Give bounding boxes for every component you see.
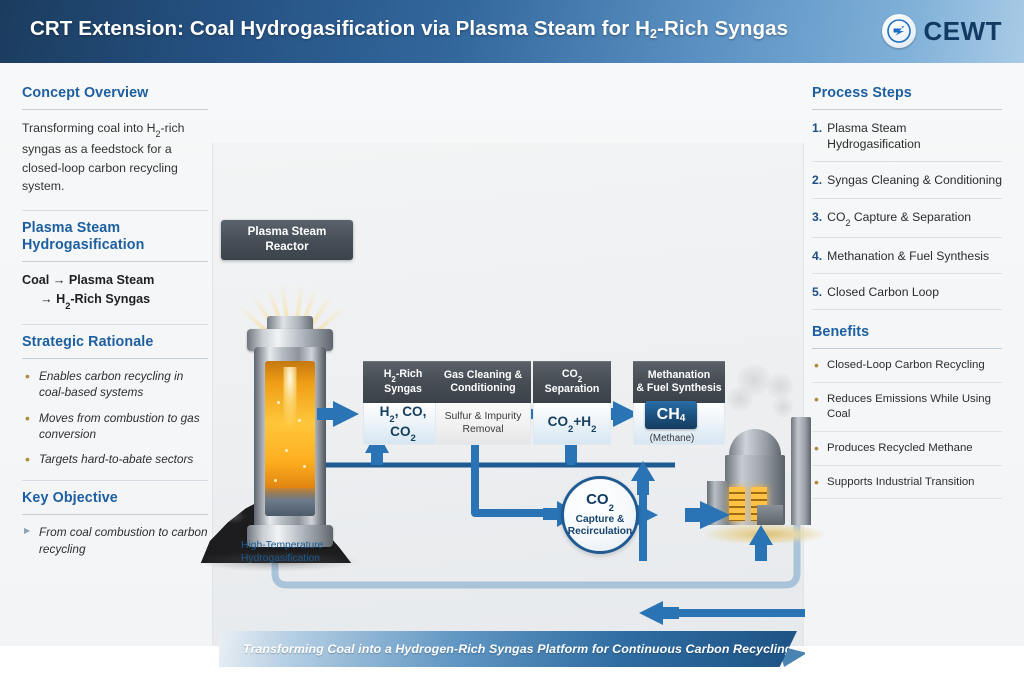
divider	[812, 382, 1002, 383]
divider	[22, 109, 208, 110]
benefit-item: Supports Industrial Transition	[812, 475, 1002, 490]
ch4-chip[interactable]: CH4	[645, 401, 697, 429]
box-subtext: CO2+H2	[533, 403, 611, 445]
divider	[812, 348, 1002, 349]
box-header-pre: CO	[562, 368, 578, 380]
brand-logo: CEWT	[882, 12, 1002, 50]
co2-subtitle-line2: Recirculation	[568, 526, 633, 538]
cewt-badge-icon	[882, 14, 916, 48]
smoke-puff	[773, 397, 793, 417]
co2-capture-recirculation-node[interactable]: CO2 Capture & Recirculation	[561, 476, 639, 554]
key-objective-heading: Key Objective	[22, 490, 208, 507]
co2-title-pre: CO	[586, 491, 609, 508]
step-number: 3.	[812, 209, 822, 228]
summary-banner: Transforming Coal into a Hydrogen-Rich S…	[219, 631, 797, 667]
process-step-3: 3. CO2 Capture & Separation	[812, 208, 1002, 228]
box-subtext-line1: Sulfur & Impurity	[445, 411, 522, 423]
concept-overview-text: Transforming coal into H2-rich syngas as…	[22, 119, 208, 196]
reactor-body	[254, 347, 326, 531]
plasma-steam-reactor-illustration	[254, 329, 326, 547]
left-sidebar: Concept Overview Transforming coal into …	[22, 85, 208, 558]
list-item: Enables carbon recycling in coal-based s…	[22, 368, 208, 401]
plasma-equation: Coal → Plasma Steam → H2-Rich Syngas	[22, 271, 208, 311]
equation-line2-pre: → H	[40, 292, 65, 306]
page-header: CRT Extension: Coal Hydrogasification vi…	[0, 0, 1024, 63]
step-number: 5.	[812, 284, 822, 300]
process-step-4: 4. Methanation & Fuel Synthesis	[812, 247, 1002, 264]
formula-mid: +H	[573, 414, 591, 429]
co2-subtitle: Capture & Recirculation	[568, 514, 633, 538]
formula-pre: CO	[548, 414, 568, 429]
box-header-line1: Gas Cleaning &	[444, 369, 522, 382]
smoke-puff	[727, 387, 753, 411]
equation-line2-sub: 2	[65, 301, 70, 311]
box-header-post: -Rich	[396, 368, 422, 380]
divider	[22, 324, 208, 325]
divider	[22, 358, 208, 359]
step-label: Closed Carbon Loop	[827, 284, 939, 300]
box-header-sub: 2	[391, 375, 395, 384]
ch4-label: CH	[657, 406, 680, 424]
right-sidebar: Process Steps 1. Plasma Steam Hydrogasif…	[812, 85, 1002, 508]
box-header-sub: 2	[578, 375, 582, 384]
concept-text-a: Transforming coal into H	[22, 121, 156, 135]
box-header-line2: Conditioning	[444, 382, 522, 395]
divider	[22, 210, 208, 211]
process-step-5: 5. Closed Carbon Loop	[812, 283, 1002, 300]
divider	[22, 261, 208, 262]
strategic-rationale-list: Enables carbon recycling in coal-based s…	[22, 368, 208, 467]
logo-wordmark: CEWT	[923, 18, 1002, 44]
box-header-line1: H2-Rich	[384, 368, 423, 383]
step-label: CO2 Capture & Separation	[827, 209, 971, 228]
smoke-puff	[767, 373, 793, 399]
equation-line-1: Coal → Plasma Steam	[22, 271, 208, 291]
plasma-heading-line1: Plasma Steam	[22, 220, 208, 237]
concept-text-sub: 2	[156, 129, 161, 139]
reactor-label-line2: Reactor	[248, 240, 327, 255]
benefits-heading: Benefits	[812, 324, 1002, 341]
box-header: CO2 Separation	[533, 361, 611, 403]
plant-side-silo	[707, 481, 729, 525]
reactor-window	[265, 361, 315, 516]
formula-pre: H	[380, 404, 390, 419]
summary-banner-text: Transforming Coal into a Hydrogen-Rich S…	[243, 642, 792, 656]
divider	[22, 514, 208, 515]
divider	[812, 309, 1002, 310]
box-subtext: H2, CO, CO2	[363, 403, 443, 445]
step-label: Plasma Steam Hydrogasification	[827, 120, 1002, 152]
process-step-2: 2. Syngas Cleaning & Conditioning	[812, 171, 1002, 188]
strategic-rationale-heading: Strategic Rationale	[22, 334, 208, 351]
box-header-line1: Methanation	[636, 369, 721, 382]
page-title: CRT Extension: Coal Hydrogasification vi…	[30, 17, 788, 41]
page-title-part-2: -Rich Syngas	[657, 17, 788, 40]
divider	[812, 498, 1002, 499]
plant-window-lights	[729, 487, 745, 521]
step-label-sub: 2	[845, 218, 850, 228]
step-label-pre: CO	[827, 210, 845, 224]
co2-subtitle-line1: Capture &	[568, 514, 633, 526]
step-label: Methanation & Fuel Synthesis	[827, 248, 989, 264]
divider	[812, 109, 1002, 110]
box-header: H2-Rich Syngas	[363, 361, 443, 403]
high-temp-line2: Hydrogasification	[241, 552, 323, 565]
box-header-line2: Separation	[545, 383, 600, 396]
equation-line2-post: -Rich Syngas	[70, 292, 150, 306]
plasma-heading-line2: Hydrogasification	[22, 237, 208, 254]
benefit-item: Closed-Loop Carbon Recycling	[812, 358, 1002, 373]
reactor-label-line1: Plasma Steam	[248, 225, 327, 240]
benefit-item: Produces Recycled Methane	[812, 441, 1002, 456]
box-header-line2: & Fuel Synthesis	[636, 382, 721, 395]
box-header-line1: CO2	[545, 368, 600, 383]
box-subtext: Sulfur & Impurity Removal	[435, 403, 531, 445]
box-header: Gas Cleaning & Conditioning	[435, 361, 531, 403]
concept-overview-heading: Concept Overview	[22, 85, 208, 102]
plant-shed	[757, 505, 783, 525]
plant-dome	[729, 429, 781, 457]
divider	[812, 273, 1002, 274]
box-header-line2: Syngas	[384, 383, 423, 396]
process-box-h2-rich-syngas[interactable]: H2-Rich Syngas H2, CO, CO2	[363, 361, 443, 445]
co2-title-sub: 2	[609, 503, 614, 514]
infographic-page: CRT Extension: Coal Hydrogasification vi…	[0, 0, 1024, 682]
plasma-steam-heading: Plasma Steam Hydrogasification	[22, 220, 208, 254]
process-diagram: Plasma Steam Reactor	[212, 143, 804, 681]
industrial-plant-illustration	[711, 371, 819, 543]
ch4-subscript: 4	[680, 413, 686, 424]
plant-chimney	[791, 417, 811, 525]
equation-line-2: → H2-Rich Syngas	[22, 290, 208, 311]
formula-sub-1: 2	[389, 414, 394, 425]
key-objective-item: From coal combustion to carbon recycling	[22, 524, 208, 558]
step-number: 4.	[812, 248, 822, 264]
process-box-co2-separation[interactable]: CO2 Separation CO2+H2	[533, 361, 611, 445]
list-item: Targets hard-to-abate sectors	[22, 451, 208, 467]
box-subtext-line2: Removal	[445, 424, 522, 436]
process-box-gas-cleaning[interactable]: Gas Cleaning & Conditioning Sulfur & Imp…	[435, 361, 531, 445]
high-temperature-label: High-Temperature Hydrogasification	[241, 539, 323, 565]
divider	[812, 198, 1002, 199]
list-item: Moves from combustion to gas conversion	[22, 410, 208, 443]
formula-mid: , CO, CO	[390, 404, 426, 438]
formula-sub-2: 2	[411, 433, 416, 444]
ch4-caption: (Methane)	[633, 433, 711, 444]
step-number: 1.	[812, 120, 822, 152]
page-body: Concept Overview Transforming coal into …	[0, 63, 1024, 682]
step-label: Syngas Cleaning & Conditioning	[827, 172, 1002, 188]
formula-sub-1: 2	[568, 424, 573, 435]
formula-sub-2: 2	[591, 424, 596, 435]
box-header: Methanation & Fuel Synthesis	[633, 361, 725, 403]
high-temp-line1: High-Temperature	[241, 539, 323, 552]
page-title-subscript: 2	[650, 27, 657, 41]
divider	[812, 465, 1002, 466]
process-steps-heading: Process Steps	[812, 85, 1002, 102]
divider	[22, 480, 208, 481]
divider	[812, 237, 1002, 238]
reactor-coal-bed	[265, 488, 315, 516]
benefit-item: Reduces Emissions While Using Coal	[812, 392, 1002, 422]
divider	[812, 431, 1002, 432]
page-title-part-1: CRT Extension: Coal Hydrogasification vi…	[30, 17, 650, 40]
step-number: 2.	[812, 172, 822, 188]
co2-title: CO2	[586, 492, 614, 511]
divider	[812, 161, 1002, 162]
step-label-post: Capture & Separation	[850, 210, 971, 224]
process-step-1: 1. Plasma Steam Hydrogasification	[812, 119, 1002, 152]
reactor-label: Plasma Steam Reactor	[221, 220, 353, 260]
